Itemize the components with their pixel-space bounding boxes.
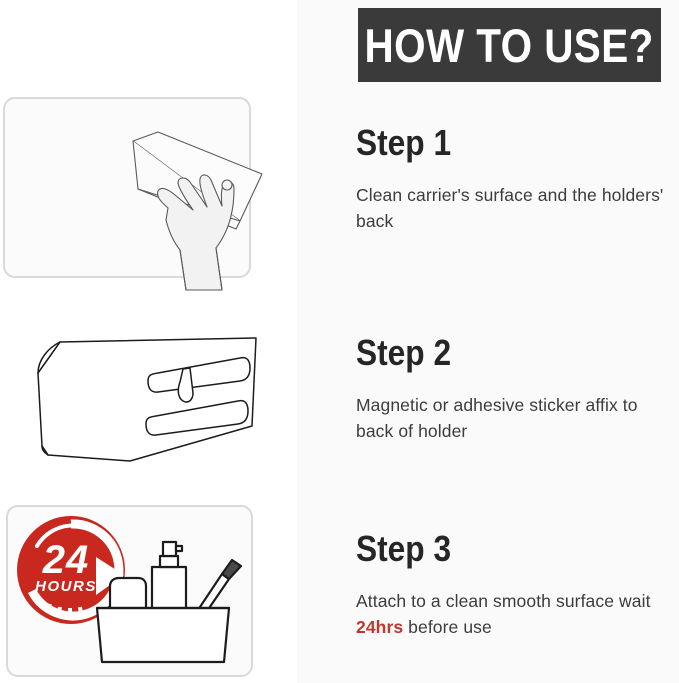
badge-unit: HOURS [35, 578, 97, 595]
instructions-column: HOW TO USE? Step 1 Clean carrier's surfa… [297, 0, 679, 683]
how-to-use-infographic: 24 HOURS [0, 0, 679, 683]
step-3-text-after: before use [403, 617, 492, 637]
step-2-block: Step 2 Magnetic or adhesive sticker affi… [356, 334, 676, 445]
wait-24-hours-icon: 24 HOURS [0, 495, 296, 683]
step-3-description: Attach to a clean smooth surface wait 24… [356, 588, 676, 641]
step-1-description: Clean carrier's surface and the holders'… [356, 182, 676, 235]
step-3-wait-duration: 24hrs [356, 617, 403, 637]
step-3-block: Step 3 Attach to a clean smooth surface … [356, 530, 676, 641]
badge-number: 24 [42, 538, 90, 582]
step-1-heading: Step 1 [356, 124, 638, 162]
step-2-description: Magnetic or adhesive sticker affix to ba… [356, 392, 676, 445]
step-2-text: Magnetic or adhesive sticker affix to ba… [356, 395, 638, 442]
step-1-text: Clean carrier's surface and the holders'… [356, 185, 663, 232]
how-to-use-banner: HOW TO USE? [358, 8, 661, 82]
cloth-wipe-hand-icon [0, 90, 296, 310]
step-3-text-before: Attach to a clean smooth surface wait [356, 591, 651, 611]
page-title: HOW TO USE? [365, 22, 654, 69]
step-1-block: Step 1 Clean carrier's surface and the h… [356, 124, 676, 235]
adhesive-strip-holder-icon [0, 330, 296, 490]
illustration-column: 24 HOURS [0, 0, 296, 683]
step-2-heading: Step 2 [356, 334, 638, 372]
step-3-heading: Step 3 [356, 530, 638, 568]
